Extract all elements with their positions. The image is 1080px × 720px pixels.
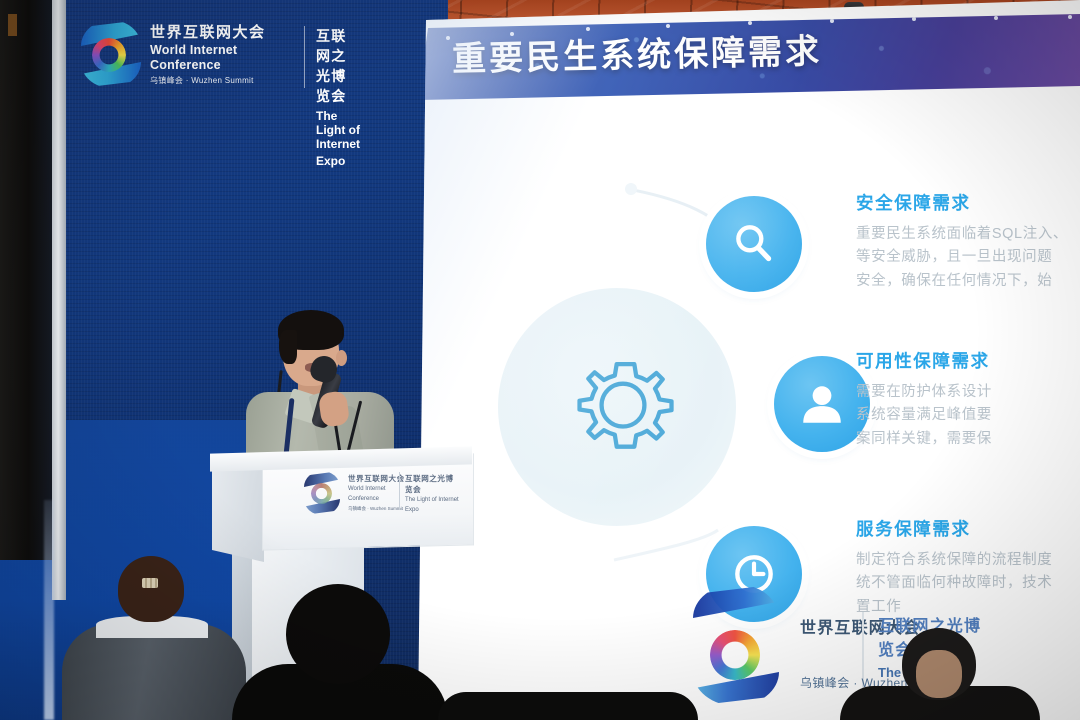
search-icon xyxy=(729,219,779,269)
feature-heading-security: 安全保障需求 xyxy=(856,190,1080,215)
podium-logo-cn-title-2: 互联网之光博览会 xyxy=(405,473,460,495)
wall-logo-en-line1: World Internet xyxy=(150,43,266,58)
feature-body-availability: 需要在防护体系设计 系统容量满足峰值要 案同样关键，需要保 xyxy=(856,381,1080,451)
body-line: 案同样关键，需要保 xyxy=(856,428,1080,451)
feature-body-security: 重要民生系统面临着SQL注入、 等安全威胁，且一旦出现问题 安全，确保在任何情况… xyxy=(856,223,1080,293)
logomark-rainbow-ring xyxy=(92,38,126,72)
projection-screen: 重要民生系统保障需求 安全保障需求 重要民生系统面临着SQ xyxy=(418,0,1080,720)
wall-logo-cn-title-2: 互联网之光博览会 xyxy=(316,26,360,106)
wall-logo-divider xyxy=(304,26,305,88)
feature-text-security: 安全保障需求 重要民生系统面临着SQL注入、 等安全威胁，且一旦出现问题 安全，… xyxy=(856,190,1080,293)
feature-heading-availability: 可用性保障需求 xyxy=(856,348,1080,373)
podium-logo-subtitle: 乌镇峰会 · Wuzhen Summit xyxy=(348,506,405,512)
wall-logo-text-secondary: 互联网之光博览会 The Light of Internet Expo xyxy=(316,26,360,169)
podium-logo-text-secondary: 互联网之光博览会 The Light of Internet Expo xyxy=(405,473,460,515)
wall-conference-logo: 世界互联网大会 World Internet Conference 乌镇峰会 ·… xyxy=(78,18,348,92)
audience-member-face xyxy=(916,650,962,698)
amber-light xyxy=(8,14,17,36)
speaker-hair-side xyxy=(279,330,297,364)
wall-logo-subtitle: 乌镇峰会 · Wuzhen Summit xyxy=(150,75,266,86)
audience-member-head xyxy=(286,584,390,684)
watermark-logomark xyxy=(690,600,782,712)
body-line: 制定符合系统保障的流程制度 xyxy=(856,549,1080,572)
logomark-rainbow-ring xyxy=(710,630,760,680)
hair-clip xyxy=(142,578,158,588)
podium-logo-en2-line1: The Light of Internet xyxy=(405,497,460,505)
feature-heading-service: 服务保障需求 xyxy=(856,516,1080,541)
hair-clip-tail xyxy=(145,589,153,611)
venue-doorway-dark xyxy=(0,0,52,560)
pin xyxy=(994,16,998,20)
podium-logo-divider xyxy=(399,472,400,510)
audience-member-body xyxy=(438,692,698,720)
pin xyxy=(912,17,916,21)
connector-line-2 xyxy=(614,530,718,560)
user-icon xyxy=(797,379,847,429)
conference-photo-scene: 世界互联网大会 World Internet Conference 乌镇峰会 ·… xyxy=(0,0,1080,720)
body-line: 安全，确保在任何情况下，始 xyxy=(856,270,1080,293)
wall-logo-en2-line2: Expo xyxy=(316,154,360,168)
conference-logomark xyxy=(78,18,144,90)
feature-text-availability: 可用性保障需求 需要在防护体系设计 系统容量满足峰值要 案同样关键，需要保 xyxy=(856,348,1080,451)
pillar-light-strip xyxy=(44,500,54,720)
connector-dot-1 xyxy=(625,183,637,195)
podium-logo-cn-title: 世界互联网大会 xyxy=(348,473,405,484)
gear-icon xyxy=(560,344,686,470)
podium-logo-en-line2: Conference xyxy=(348,496,405,504)
podium-logomark xyxy=(302,471,342,515)
search-icon-badge xyxy=(706,196,802,292)
venue-pillar xyxy=(52,0,66,600)
body-line: 重要民生系统面临着SQL注入、 xyxy=(856,223,1080,246)
body-line: 需要在防护体系设计 xyxy=(856,381,1080,404)
pin xyxy=(1068,15,1072,19)
body-line: 等安全威胁，且一旦出现问题 xyxy=(856,246,1080,269)
wall-logo-en2-line1: The Light of Internet xyxy=(316,109,360,151)
audience-member-body xyxy=(62,624,246,720)
podium-logo-en-line1: World Internet xyxy=(348,486,405,494)
wall-logo-en-line2: Conference xyxy=(150,58,266,73)
logomark-rainbow-ring xyxy=(311,483,332,504)
podium-logo-en2-line2: Expo xyxy=(405,507,460,515)
pin xyxy=(446,36,450,40)
podium-logo-text-primary: 世界互联网大会 World Internet Conference 乌镇峰会 ·… xyxy=(348,473,405,512)
podium-conference-logo: 世界互联网大会 World Internet Conference 乌镇峰会 ·… xyxy=(302,468,460,518)
wall-logo-cn-title: 世界互联网大会 xyxy=(150,24,266,43)
body-line: 统不管面临何种故障时，技术 xyxy=(856,572,1080,595)
speaker-ear xyxy=(336,350,347,366)
wall-logo-text-primary: 世界互联网大会 World Internet Conference 乌镇峰会 ·… xyxy=(150,24,266,86)
body-line: 系统容量满足峰值要 xyxy=(856,404,1080,427)
